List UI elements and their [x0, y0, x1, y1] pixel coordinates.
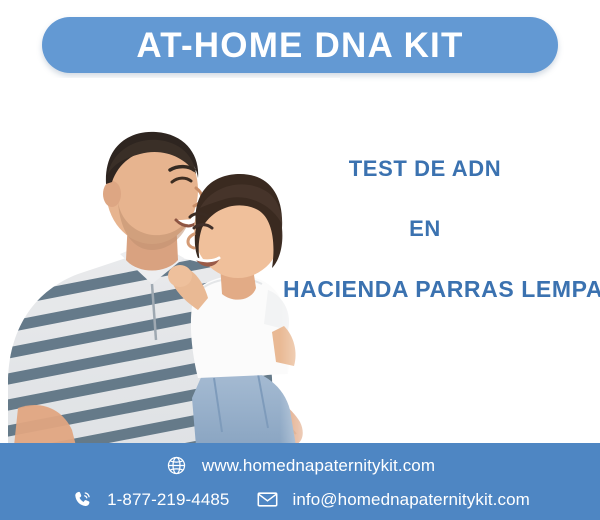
poster: AT-HOME DNA KIT [0, 0, 600, 520]
contact-phone[interactable]: 1-877-219-4485 [70, 487, 229, 511]
contact-email[interactable]: info@homednapaternitykit.com [255, 487, 529, 511]
banner-pill: AT-HOME DNA KIT [42, 17, 558, 73]
headline-line-1: TEST DE ADN [250, 158, 600, 180]
phone-text: 1-877-219-4485 [107, 491, 229, 508]
headline-line-3: HACIENDA PARRAS LEMPA [268, 278, 600, 301]
footer-row-phone-email: 1-877-219-4485 info@homednapaternitykit.… [0, 482, 600, 516]
envelope-icon [255, 487, 279, 511]
photo-top-fade [0, 78, 340, 104]
footer-row-website: www.homednapaternitykit.com [0, 448, 600, 482]
email-text: info@homednapaternitykit.com [292, 491, 529, 508]
website-text: www.homednapaternitykit.com [202, 457, 435, 474]
footer-contact-bar: www.homednapaternitykit.com 1-877-219-44… [0, 443, 600, 520]
phone-icon [70, 487, 94, 511]
banner-title: AT-HOME DNA KIT [136, 28, 463, 63]
headline-block: TEST DE ADN EN HACIENDA PARRAS LEMPA [250, 158, 600, 301]
globe-icon [165, 453, 189, 477]
headline-line-2: EN [250, 218, 600, 240]
contact-website[interactable]: www.homednapaternitykit.com [165, 453, 435, 477]
